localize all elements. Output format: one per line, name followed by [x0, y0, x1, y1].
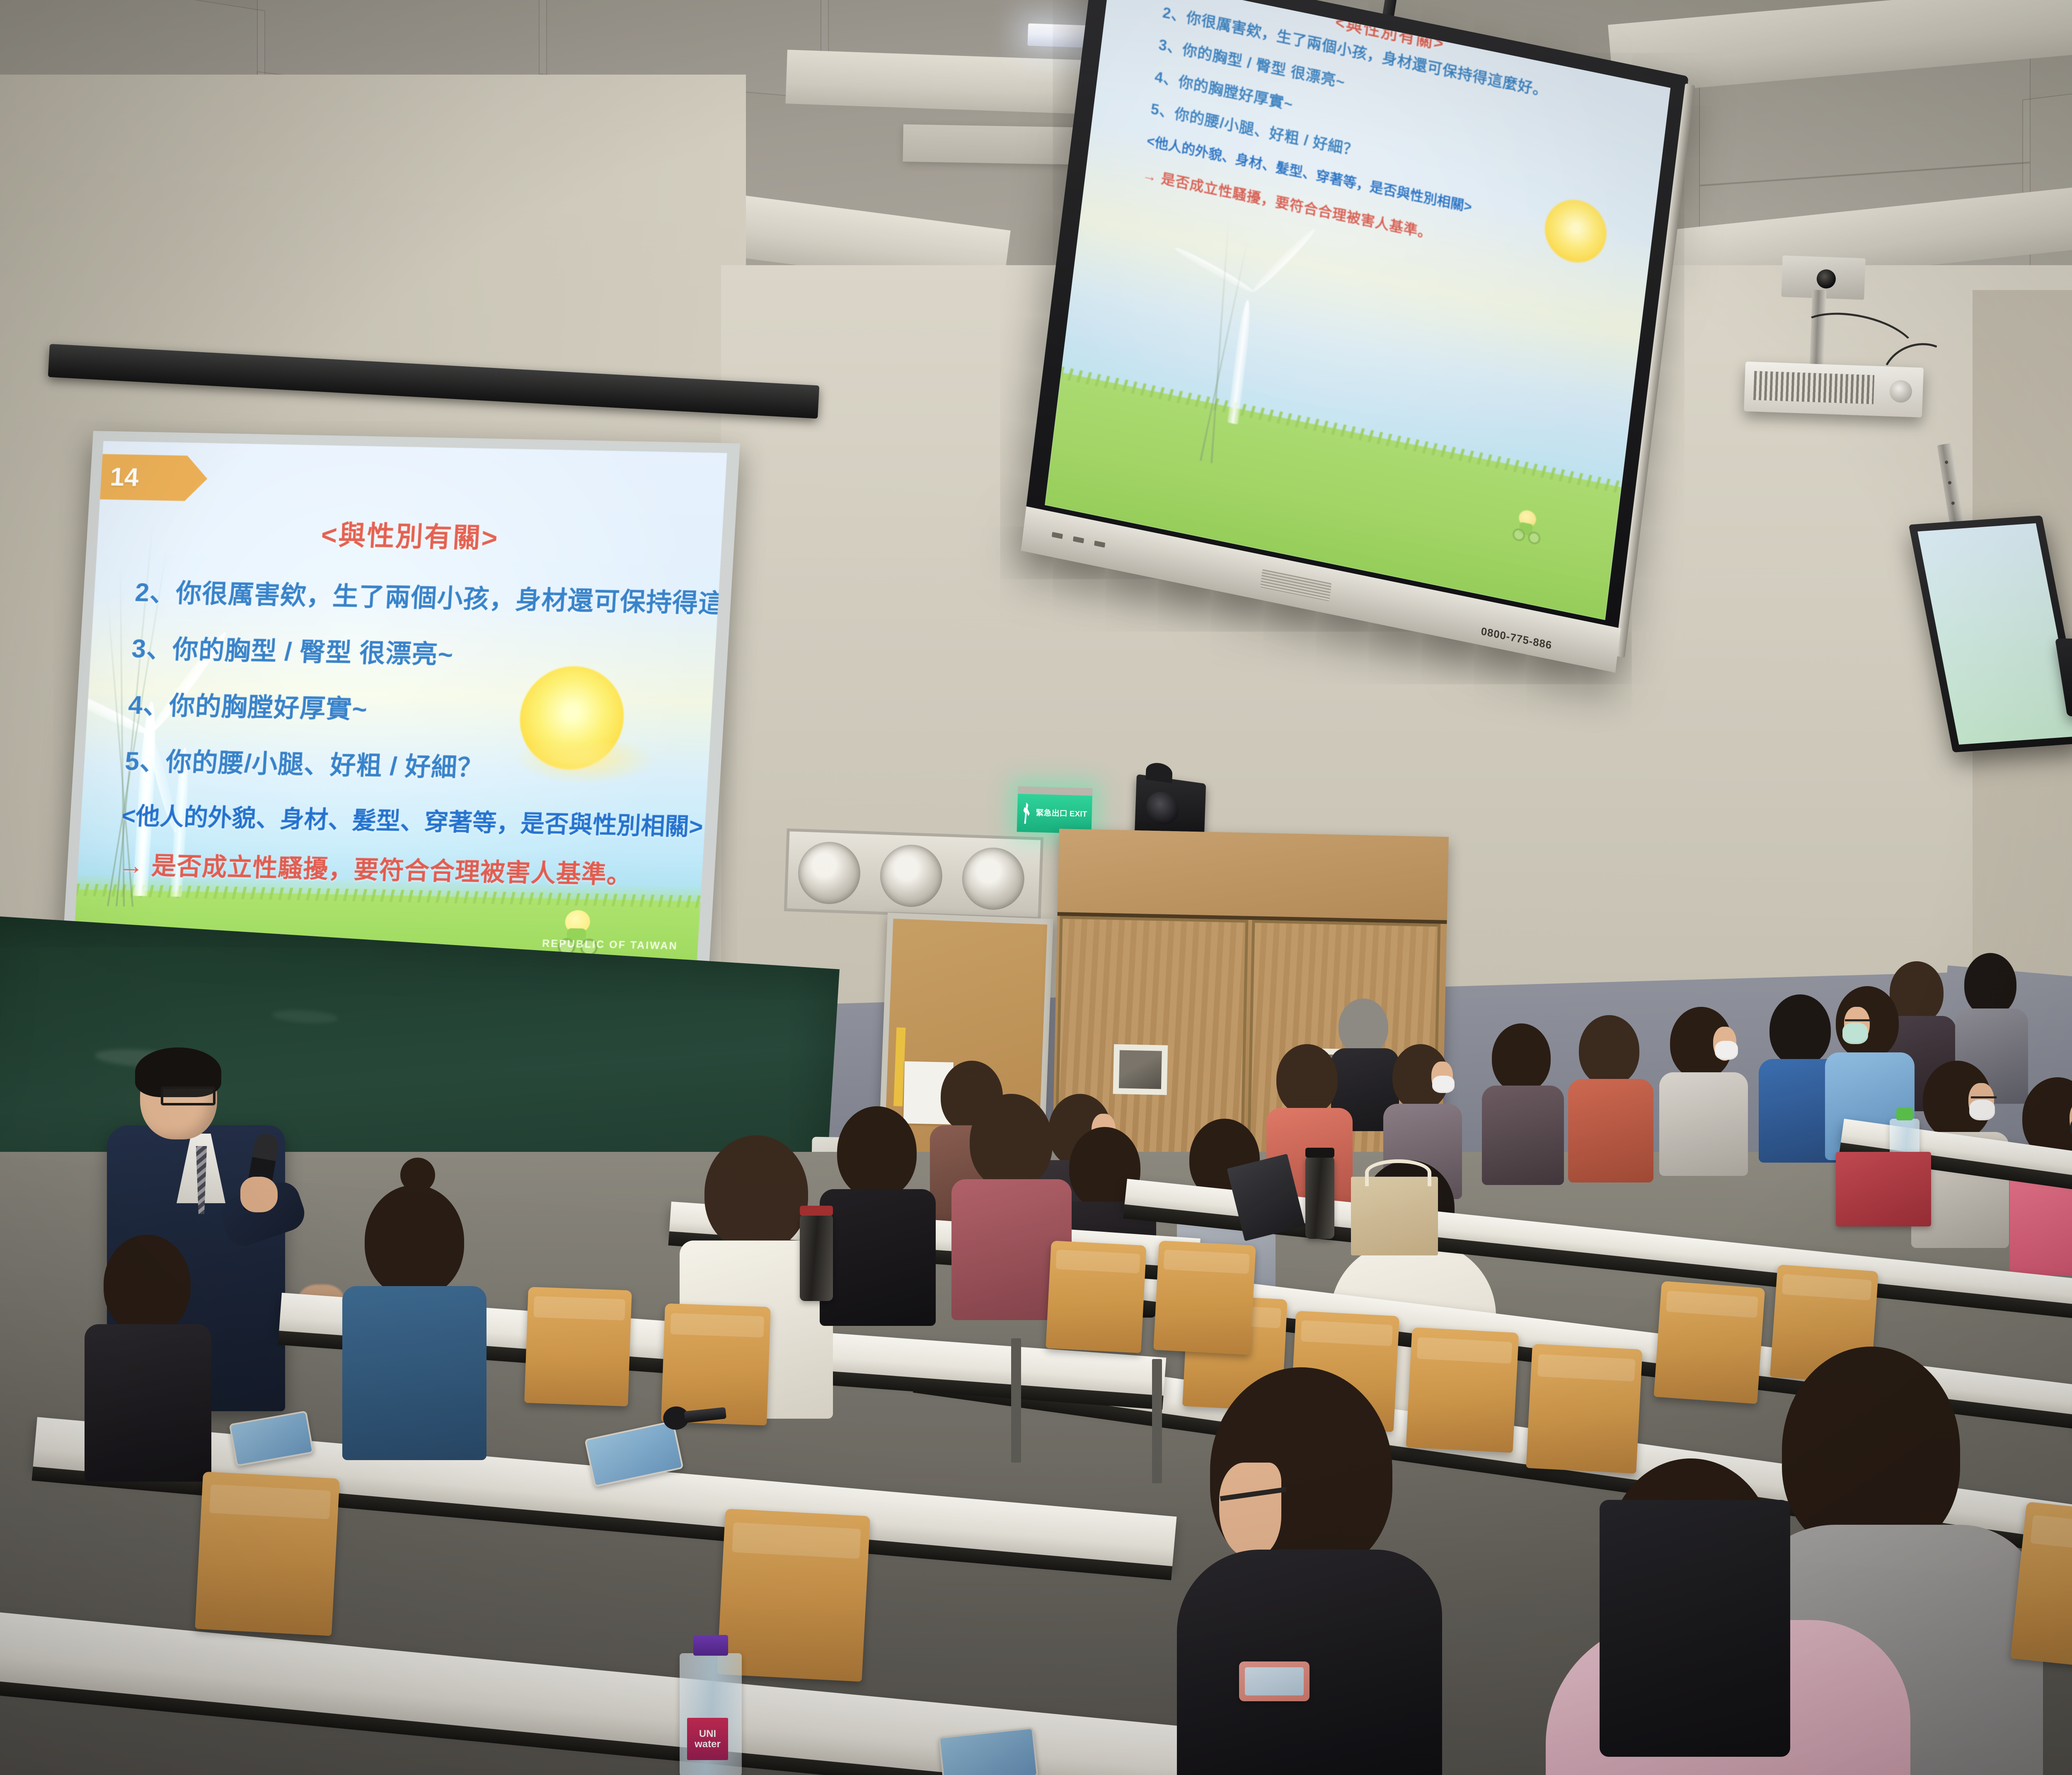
slide-subhead: <他人的外貌、身材、髮型、穿著等，是否與性別相關> [121, 796, 684, 842]
chair-support [1152, 1359, 1162, 1483]
display-panel: <與性別有關> 2、你很厲害欸，生了兩個小孩，身材還可保持得這麼好。 3、你的胸… [1045, 0, 1670, 620]
air-diffuser-icon-1 [797, 841, 861, 905]
camera-lens-icon [1816, 269, 1836, 289]
backpack[interactable] [1600, 1500, 1790, 1757]
speaker-grill [1260, 569, 1331, 602]
chair[interactable] [1654, 1281, 1765, 1404]
hdmi-port-icon [1073, 536, 1084, 543]
chair[interactable] [1046, 1241, 1146, 1353]
red-handbag[interactable] [1836, 1152, 1931, 1226]
chair-support [1011, 1338, 1021, 1463]
slide-surface: 14 <與性別有關> 2、你很厲害欸，生了兩個小孩，身材還可保持得這麼好。 3、… [71, 441, 727, 993]
slide-conclusion: → 是否成立性騷擾，要符合合理被害人基準。 [118, 845, 681, 892]
chair[interactable] [524, 1287, 632, 1407]
slide-title: <與性別有關> [97, 508, 723, 560]
thermos-bottle[interactable] [800, 1214, 833, 1301]
uni-water-bottle[interactable]: UNI water [680, 1653, 742, 1775]
projector-vent [1753, 371, 1874, 404]
chair[interactable] [1406, 1327, 1519, 1453]
exit-sign-label: 緊急出口 EXIT [1036, 809, 1087, 819]
lecture-hall-photo: <與性別有關> 2、你很厲害欸，生了兩個小孩，身材還可保持得這麼好。 3、你的胸… [0, 0, 2072, 1775]
chair[interactable] [1153, 1241, 1256, 1355]
thermos-bottle[interactable] [1305, 1156, 1334, 1239]
presenter-hand [240, 1177, 278, 1212]
air-diffuser-icon-3 [961, 846, 1025, 911]
air-diffuser-panel [784, 828, 1044, 920]
slide-page-number: 14 [109, 462, 140, 492]
presenter-glasses [161, 1086, 215, 1105]
slide-line-1: 2、你很厲害欸，生了兩個小孩，身材還可保持得這麼好。 [134, 571, 697, 619]
cyclist-watermark-icon [1512, 508, 1543, 545]
aux-port-icon [1094, 541, 1105, 548]
door-view-window-left [1113, 1044, 1168, 1095]
slide-page-tag: 14 [87, 454, 208, 501]
bottle-label: UNI water [687, 1718, 728, 1760]
bottle-cap [693, 1635, 728, 1656]
running-person-icon [1022, 802, 1031, 824]
air-diffuser-icon-2 [879, 844, 943, 908]
chair[interactable] [1526, 1344, 1642, 1474]
tote-bag[interactable] [1351, 1177, 1438, 1255]
speaker-cone-icon [1146, 790, 1179, 827]
card-holder[interactable] [1239, 1661, 1310, 1701]
slide-body: 2、你很厲害欸，生了兩個小孩，身材還可保持得這麼好。 3、你的胸型 / 臀型 很… [118, 571, 697, 892]
slide-line-3: 4、你的胸膛好厚實~ [127, 684, 691, 732]
emergency-exit-sign: 緊急出口 EXIT [1017, 786, 1093, 834]
slide-line-4: 5、你的腰/小腿、好粗 / 好細？ [124, 740, 687, 788]
usb-port-icon [1052, 532, 1063, 539]
projection-screen: 14 <與性別有關> 2、你很厲害欸，生了兩個小孩，身材還可保持得這麼好。 3、… [60, 431, 740, 1006]
door-transom [1058, 829, 1449, 924]
face-mask [1842, 1023, 1868, 1044]
slide-line-2: 3、你的胸型 / 臀型 很漂亮~ [131, 628, 694, 676]
hair-bun [400, 1158, 435, 1192]
chair[interactable] [195, 1472, 339, 1636]
